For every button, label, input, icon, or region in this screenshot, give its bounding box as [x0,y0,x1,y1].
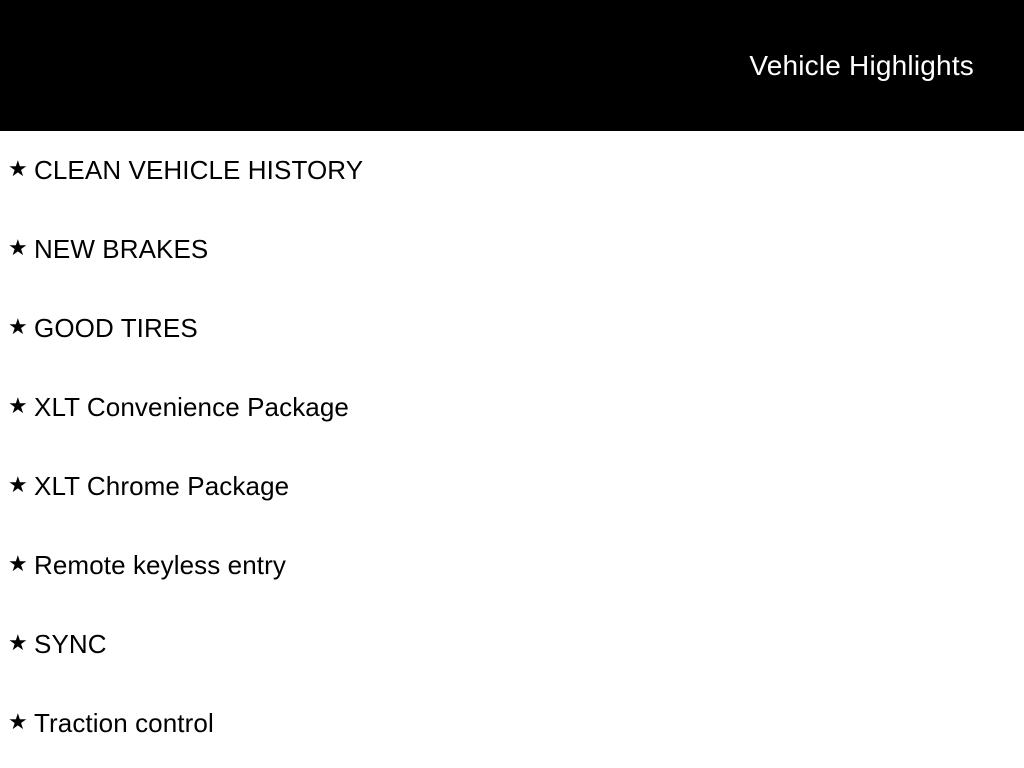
list-item: ★ SYNC [0,605,1024,684]
header-banner: Vehicle Highlights [0,0,1024,131]
star-icon: ★ [8,633,34,655]
list-item: ★ Traction control [0,684,1024,763]
star-icon: ★ [8,712,34,734]
page-title: Vehicle Highlights [749,52,974,80]
star-icon: ★ [8,317,34,339]
list-item: ★ CLEAN VEHICLE HISTORY [0,131,1024,210]
highlight-label: NEW BRAKES [34,235,208,264]
highlight-label: Remote keyless entry [34,551,286,580]
list-item: ★ NEW BRAKES [0,210,1024,289]
highlight-label: GOOD TIRES [34,314,198,343]
highlight-label: XLT Convenience Package [34,393,349,422]
list-item: ★ GOOD TIRES [0,289,1024,368]
highlight-label: CLEAN VEHICLE HISTORY [34,156,363,185]
star-icon: ★ [8,554,34,576]
highlight-label: SYNC [34,630,107,659]
highlight-label: Traction control [34,709,214,738]
star-icon: ★ [8,159,34,181]
star-icon: ★ [8,475,34,497]
vehicle-highlights-list: ★ CLEAN VEHICLE HISTORY ★ NEW BRAKES ★ G… [0,131,1024,768]
star-icon: ★ [8,238,34,260]
list-item: ★ Remote keyless entry [0,526,1024,605]
vehicle-highlights-page: Vehicle Highlights ★ CLEAN VEHICLE HISTO… [0,0,1024,768]
list-item: ★ XLT Convenience Package [0,368,1024,447]
highlight-label: XLT Chrome Package [34,472,289,501]
list-item: ★ XLT Chrome Package [0,447,1024,526]
star-icon: ★ [8,396,34,418]
